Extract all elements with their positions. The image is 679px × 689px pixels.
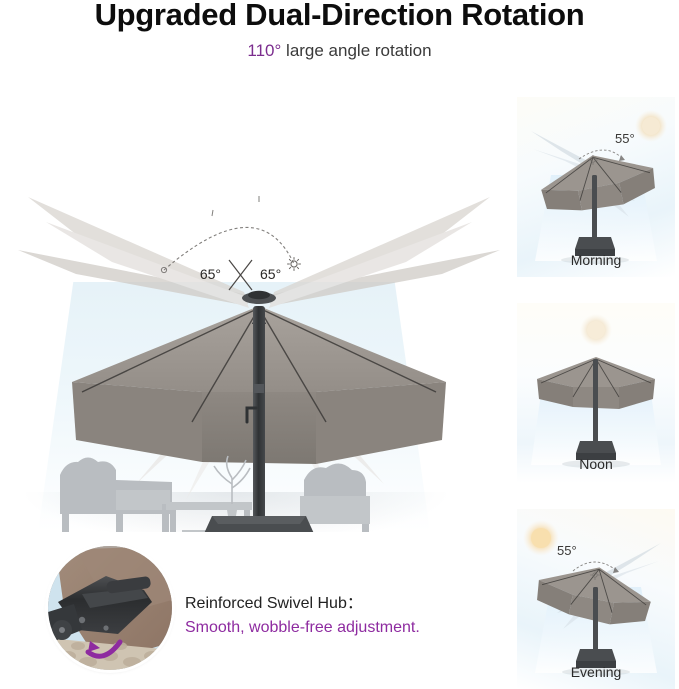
panel-morning-angle-label: 55° <box>615 131 635 146</box>
panel-evening: 55° Evening <box>517 509 675 689</box>
sun-core <box>531 528 551 548</box>
feature-caption: Reinforced Swivel Hub： Smooth, wobble-fr… <box>185 592 515 640</box>
page-subtitle: 110° large angle rotation <box>0 40 679 62</box>
umbrella-pole <box>253 306 265 532</box>
panel-evening-svg: 55° <box>517 509 675 689</box>
umbrella-pole <box>592 175 597 241</box>
swivel-hub-closeup-photo <box>48 546 172 670</box>
panel-noon-label: Noon <box>517 456 675 472</box>
hero-illustration: 65° 65° <box>16 92 502 532</box>
ghost-canopy-group-upper-left <box>18 197 249 308</box>
panel-morning-svg: 55° <box>517 97 675 277</box>
subtitle-angle-highlight: 110° <box>247 41 281 60</box>
panel-morning: 55° Morning <box>517 97 675 277</box>
rotation-arc <box>161 196 294 273</box>
angle-label-left: 65° <box>200 266 221 282</box>
panel-evening-label: Evening <box>517 664 675 680</box>
panel-evening-angle-label: 55° <box>557 543 577 558</box>
ghost-canopy-group-upper-right <box>269 197 500 308</box>
subtitle-text: large angle rotation <box>281 41 431 60</box>
sun-core <box>587 321 605 339</box>
infographic-page: Upgraded Dual-Direction Rotation 110° la… <box>0 0 679 689</box>
sun-icon <box>288 258 301 271</box>
pole-joint <box>254 384 264 393</box>
panel-morning-label: Morning <box>517 252 675 268</box>
feature-title: Reinforced Swivel Hub： <box>185 592 515 616</box>
umbrella-pole <box>593 359 598 445</box>
page-title: Upgraded Dual-Direction Rotation <box>0 0 679 34</box>
feature-description: Smooth, wobble-free adjustment. <box>185 616 515 640</box>
potted-plant <box>214 456 250 504</box>
panel-noon: Noon <box>517 303 675 483</box>
sun-core <box>642 117 660 135</box>
hero-umbrella-svg: 65° 65° <box>16 92 502 532</box>
umbrella-pole <box>593 587 598 653</box>
swivel-hub-joint <box>242 291 276 304</box>
angle-label-right: 65° <box>260 266 281 282</box>
umbrella-base <box>202 516 316 532</box>
angle-cross-mark <box>229 260 252 290</box>
